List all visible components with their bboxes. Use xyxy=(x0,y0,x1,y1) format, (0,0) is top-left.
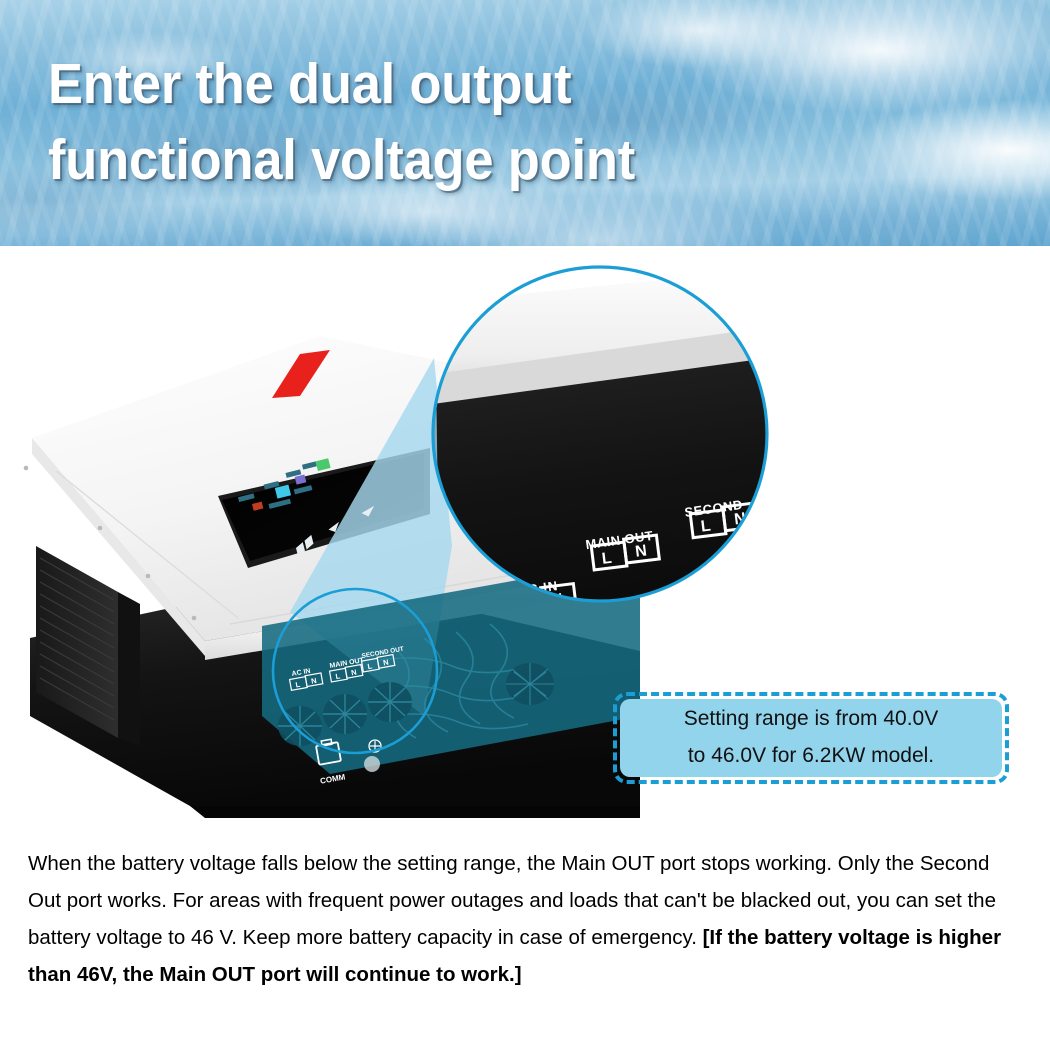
hero-banner: Enter the dual output functional voltage… xyxy=(0,0,1050,246)
setting-range-callout: Setting range is from 40.0V to 46.0V for… xyxy=(613,692,1009,784)
zoom-label-main-n: N xyxy=(634,542,648,560)
callout-line-1: Setting range is from 40.0V xyxy=(684,701,938,738)
zoom-label-comm: COMM xyxy=(599,824,657,832)
callout-inner: Setting range is from 40.0V to 46.0V for… xyxy=(620,699,1002,777)
description-paragraph: When the battery voltage falls below the… xyxy=(0,845,1050,993)
callout-line-2: to 46.0V for 6.2KW model. xyxy=(688,738,934,775)
page-title: Enter the dual output functional voltage… xyxy=(48,46,747,199)
